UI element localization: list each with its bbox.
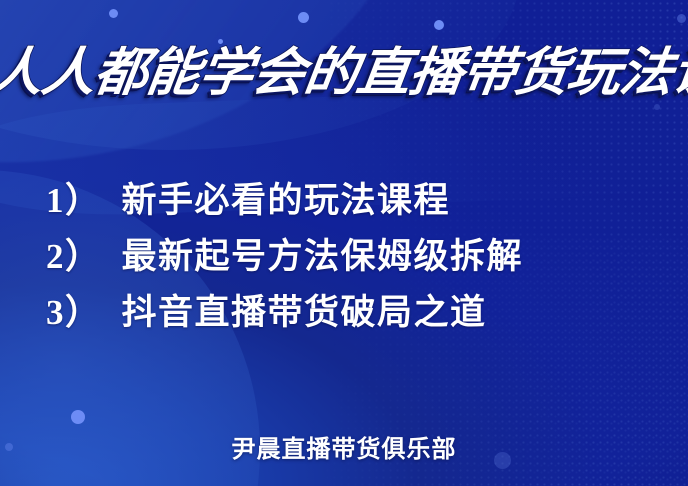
list-item-number: 1） — [46, 172, 102, 223]
list-item: 2）最新起号方法保姆级拆解 — [0, 228, 688, 284]
course-highlights-list: 1）新手必看的玩法课程2）最新起号方法保姆级拆解3）抖音直播带货破局之道 — [0, 172, 688, 340]
decorative-dot — [677, 14, 686, 23]
decorative-dot — [298, 12, 309, 23]
list-item-label: 新手必看的玩法课程 — [122, 172, 451, 223]
list-item-number: 2） — [46, 228, 102, 279]
decorative-dot — [109, 9, 118, 18]
page-title: 人人都能学会的直播带货玩法课 — [0, 46, 688, 101]
list-item: 3）抖音直播带货破局之道 — [0, 284, 688, 340]
list-item-label: 最新起号方法保姆级拆解 — [122, 228, 524, 279]
brand-footer: 尹晨直播带货俱乐部 — [0, 429, 688, 464]
list-item-number: 3） — [46, 284, 102, 335]
poster-canvas: 人人都能学会的直播带货玩法课 1）新手必看的玩法课程2）最新起号方法保姆级拆解3… — [0, 0, 688, 486]
decorative-dot — [71, 410, 85, 424]
decorative-dot — [434, 20, 444, 30]
decorative-dot — [654, 104, 660, 110]
title-block: 人人都能学会的直播带货玩法课 — [0, 46, 688, 101]
list-item-label: 抖音直播带货破局之道 — [122, 284, 487, 335]
list-item: 1）新手必看的玩法课程 — [0, 172, 688, 228]
